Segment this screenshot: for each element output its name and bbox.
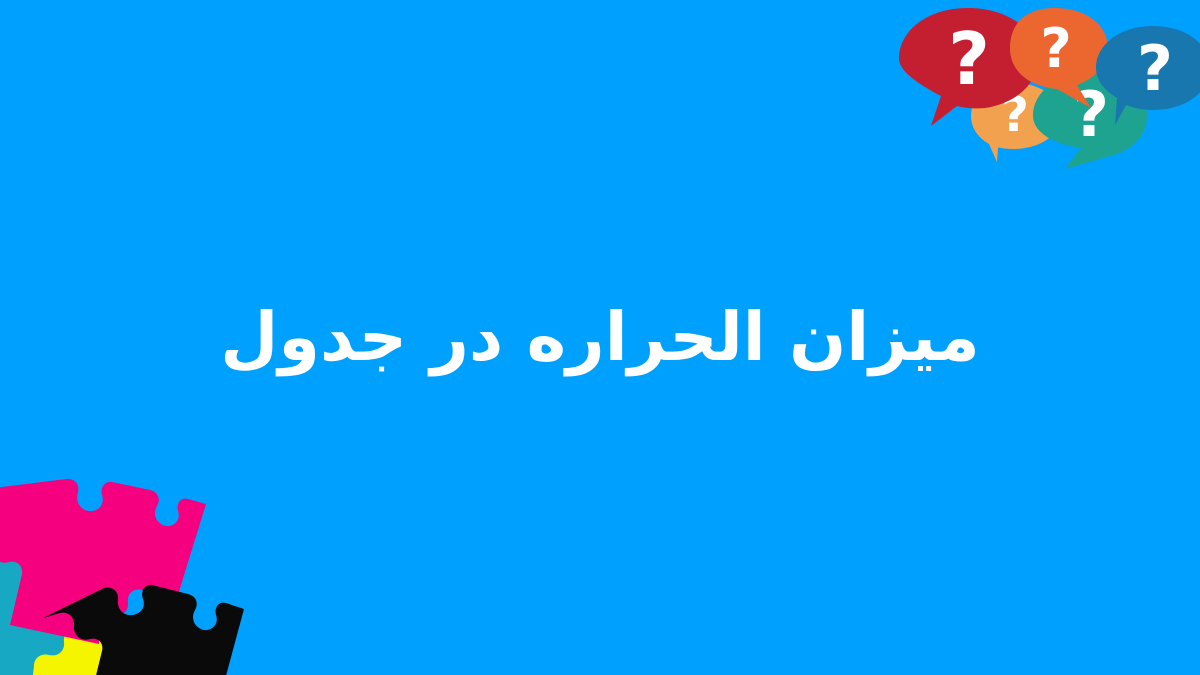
question-mark-glyph: ? (1040, 17, 1071, 80)
question-mark-glyph: ? (948, 17, 990, 101)
question-mark-glyph: ? (1137, 32, 1173, 105)
slide-canvas: ? ? ? ? ? ميزان ا (0, 0, 1200, 675)
jigsaw-puzzle-pieces (0, 468, 232, 675)
question-mark-speech-bubbles: ? ? ? ? ? (905, 0, 1200, 180)
